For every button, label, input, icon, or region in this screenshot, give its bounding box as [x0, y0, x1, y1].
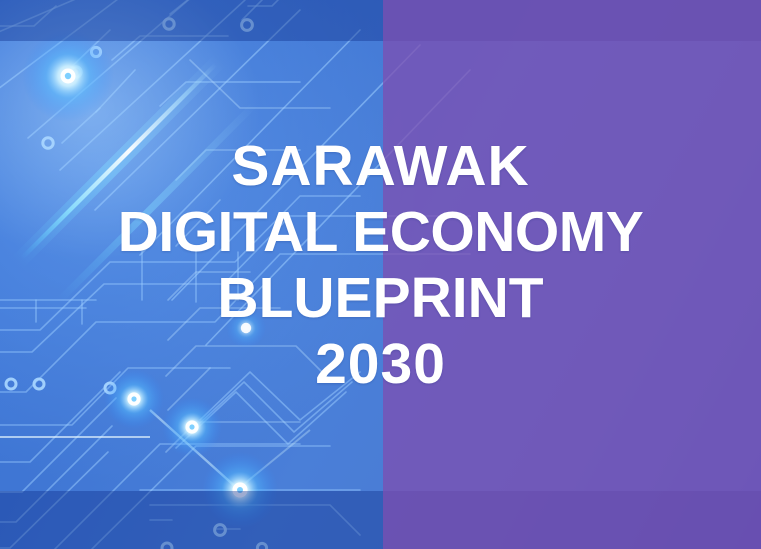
title-line-region: SARAWAK [0, 138, 761, 195]
poster-title-block: SARAWAK DIGITAL ECONOMY BLUEPRINT 2030 [0, 138, 761, 393]
circuit-glow-node-pupil [131, 396, 136, 401]
title-line-year: 2030 [0, 336, 761, 393]
title-line-document-type: BLUEPRINT [0, 270, 761, 327]
circuit-glow-node-pupil [189, 424, 194, 429]
poster-canvas: SARAWAK DIGITAL ECONOMY BLUEPRINT 2030 [0, 0, 761, 549]
circuit-glow-node-pupil [65, 73, 71, 79]
title-line-subject: DIGITAL ECONOMY [0, 204, 761, 261]
